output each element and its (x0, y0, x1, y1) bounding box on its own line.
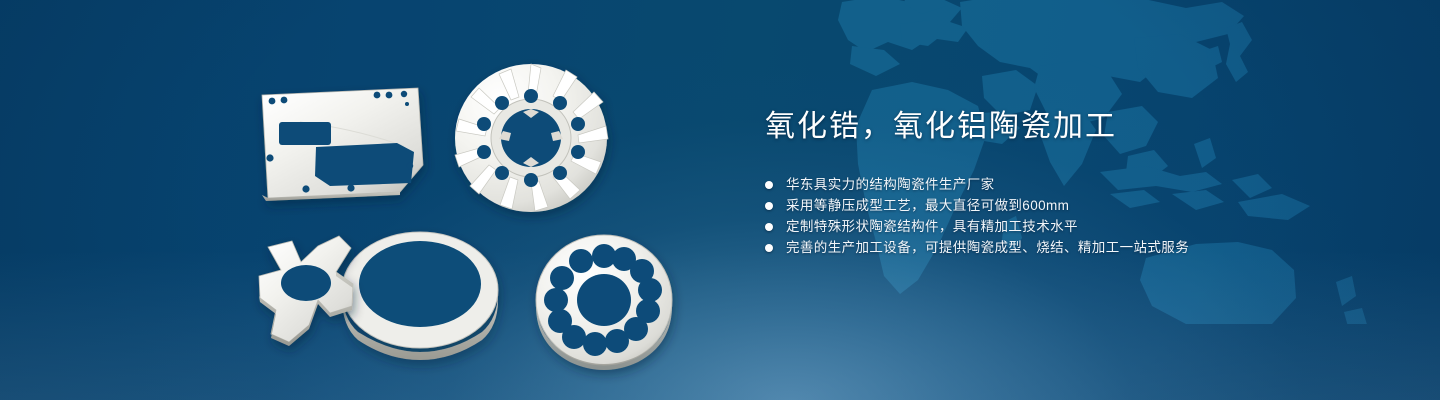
product-ceramic-flat-plate (262, 88, 423, 201)
product-ceramic-cross-plate (259, 236, 353, 346)
feature-text: 采用等静压成型工艺，最大直径可做到600mm (786, 195, 1069, 216)
product-ceramic-thin-ring (342, 232, 498, 360)
feature-text: 华东具实力的结构陶瓷件生产厂家 (786, 174, 995, 195)
promo-banner: 氧化锆，氧化铝陶瓷加工 华东具实力的结构陶瓷件生产厂家 采用等静压成型工艺，最大… (0, 0, 1440, 400)
product-photo-group (0, 0, 760, 400)
bullet-dot-icon (765, 181, 773, 189)
product-ceramic-perforated-disc (536, 235, 672, 370)
bullet-dot-icon (765, 223, 773, 231)
feature-list: 华东具实力的结构陶瓷件生产厂家 采用等静压成型工艺，最大直径可做到600mm 定… (765, 174, 1425, 258)
feature-text: 定制特殊形状陶瓷结构件，具有精加工技术水平 (786, 216, 1078, 237)
bullet-dot-icon (765, 244, 773, 252)
feature-list-item: 采用等静压成型工艺，最大直径可做到600mm (765, 195, 1425, 216)
product-ceramic-impeller-disc (455, 64, 608, 212)
banner-copy: 氧化锆，氧化铝陶瓷加工 华东具实力的结构陶瓷件生产厂家 采用等静压成型工艺，最大… (765, 108, 1425, 258)
feature-list-item: 华东具实力的结构陶瓷件生产厂家 (765, 174, 1425, 195)
feature-list-item: 定制特殊形状陶瓷结构件，具有精加工技术水平 (765, 216, 1425, 237)
bullet-dot-icon (765, 202, 773, 210)
feature-text: 完善的生产加工设备，可提供陶瓷成型、烧结、精加工一站式服务 (786, 237, 1189, 258)
feature-list-item: 完善的生产加工设备，可提供陶瓷成型、烧结、精加工一站式服务 (765, 237, 1425, 258)
banner-title: 氧化锆，氧化铝陶瓷加工 (765, 108, 1425, 146)
